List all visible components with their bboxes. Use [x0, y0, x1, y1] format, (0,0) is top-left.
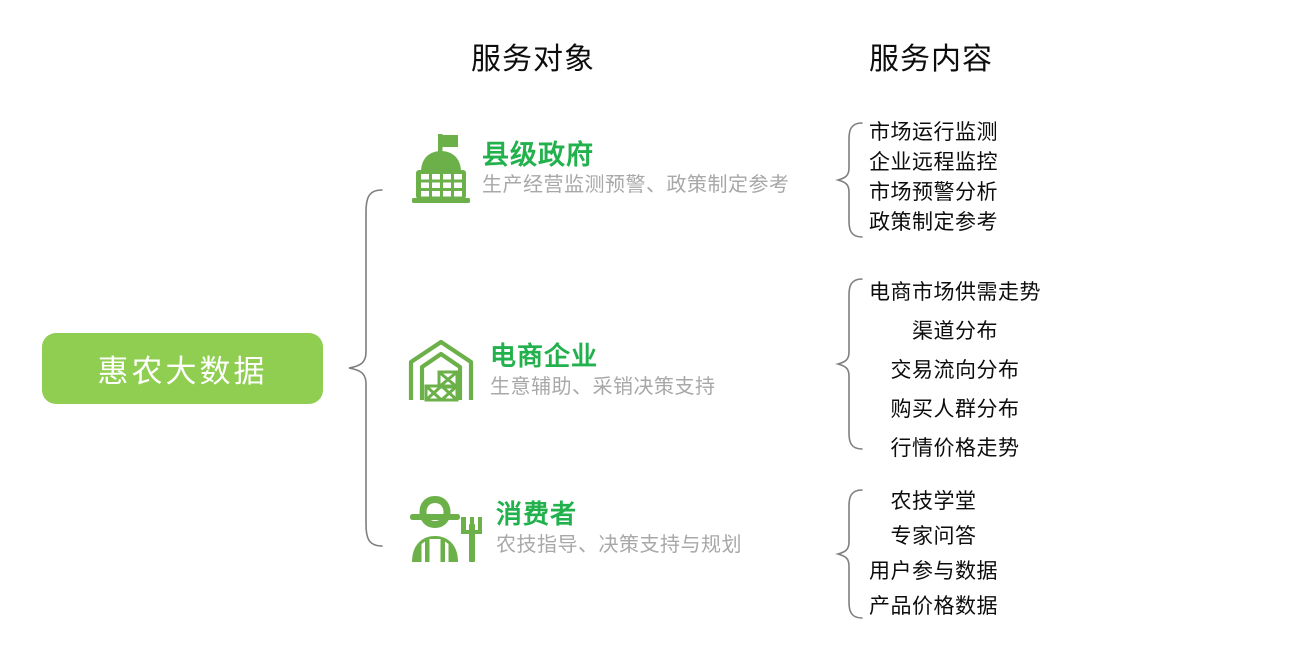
warehouse-icon	[406, 336, 476, 406]
main-brace	[349, 190, 382, 546]
service-brace-ecom	[838, 279, 862, 449]
farmer-icon	[408, 492, 482, 566]
service-item: 农技学堂	[891, 484, 977, 519]
root-node-huinong-big-data[interactable]: 惠农大数据	[42, 333, 323, 404]
service-item: 行情价格走势	[891, 429, 1020, 468]
audience-subtitle-consumer: 农技指导、决策支持与规划	[496, 532, 742, 558]
service-content-group-government: 市场运行监测 企业远程监控 市场预警分析 政策制定参考	[869, 118, 998, 238]
column-header-service-audience: 服务对象	[471, 34, 595, 78]
service-brace-consumer	[838, 490, 862, 618]
root-node-label: 惠农大数据	[98, 346, 268, 391]
service-content-group-consumer: 农技学堂 专家问答 用户参与数据 产品价格数据	[869, 484, 998, 624]
audience-title-ecommerce: 电商企业	[490, 342, 716, 371]
service-brace-gov	[838, 123, 862, 237]
audience-subtitle-ecommerce: 生意辅助、采销决策支持	[490, 374, 716, 400]
service-item: 政策制定参考	[869, 208, 998, 238]
service-item: 产品价格数据	[869, 589, 998, 624]
column-header-service-content: 服务内容	[869, 34, 993, 78]
audience-text-consumer: 消费者 农技指导、决策支持与规划	[496, 500, 742, 557]
service-item: 用户参与数据	[869, 554, 998, 589]
audience-row-government[interactable]: 县级政府 生产经营监测预警、政策制定参考	[410, 132, 790, 206]
service-content-group-ecommerce: 电商市场供需走势 渠道分布 交易流向分布 购买人群分布 行情价格走势	[869, 273, 1041, 468]
audience-title-consumer: 消费者	[496, 500, 742, 529]
service-item: 渠道分布	[912, 312, 998, 351]
audience-row-consumer[interactable]: 消费者 农技指导、决策支持与规划	[408, 492, 742, 566]
audience-subtitle-government: 生产经营监测预警、政策制定参考	[482, 172, 790, 198]
service-item: 交易流向分布	[891, 351, 1020, 390]
audience-text-government: 县级政府 生产经营监测预警、政策制定参考	[482, 140, 790, 198]
audience-row-ecommerce[interactable]: 电商企业 生意辅助、采销决策支持	[406, 336, 716, 406]
service-item: 电商市场供需走势	[869, 273, 1041, 312]
audience-text-ecommerce: 电商企业 生意辅助、采销决策支持	[490, 342, 716, 399]
service-item: 购买人群分布	[891, 390, 1020, 429]
service-item: 市场预警分析	[869, 178, 998, 208]
service-item: 企业远程监控	[869, 148, 998, 178]
audience-title-government: 县级政府	[482, 140, 790, 170]
service-item: 专家问答	[891, 519, 977, 554]
service-item: 市场运行监测	[869, 118, 998, 148]
government-building-icon	[410, 132, 472, 206]
